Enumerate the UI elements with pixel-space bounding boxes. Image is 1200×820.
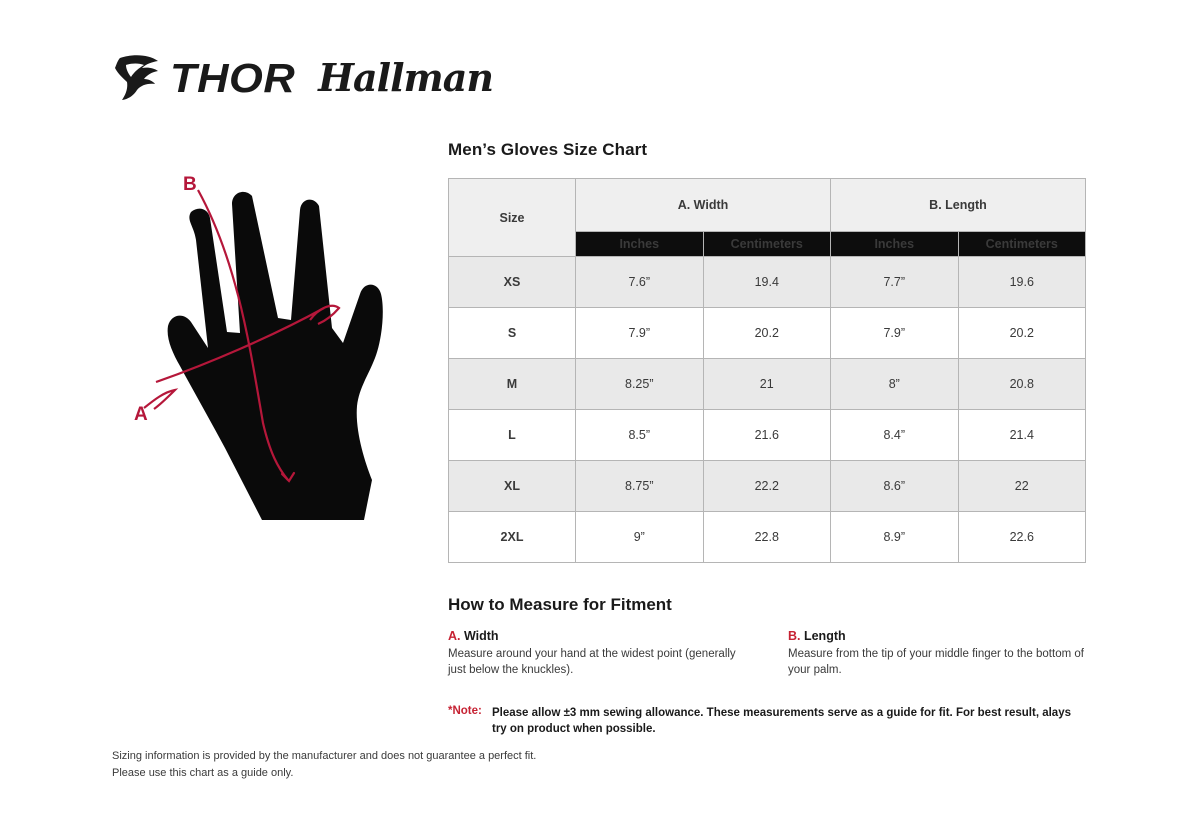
cell-width-centimeters: 21.6 bbox=[703, 410, 831, 461]
cell-size: L bbox=[449, 410, 576, 461]
measure-letter-a: A. bbox=[448, 629, 461, 643]
column-header-size: Size bbox=[449, 179, 576, 257]
column-header-width-centimeters: Centimeters bbox=[703, 232, 831, 257]
diagram-label-a: A bbox=[134, 404, 148, 425]
cell-width-inches: 7.9” bbox=[576, 308, 704, 359]
note-label: *Note: bbox=[448, 705, 492, 717]
measure-item-width-heading: A. Width bbox=[448, 629, 756, 643]
cell-length-inches: 8.6” bbox=[831, 461, 959, 512]
how-to-measure-columns: A. Width Measure around your hand at the… bbox=[448, 629, 1088, 679]
table-row: L 8.5” 21.6 8.4” 21.4 bbox=[449, 410, 1086, 461]
cell-size: 2XL bbox=[449, 512, 576, 563]
column-header-length-centimeters: Centimeters bbox=[958, 232, 1086, 257]
measure-item-width: A. Width Measure around your hand at the… bbox=[448, 629, 788, 679]
cell-size: XS bbox=[449, 257, 576, 308]
table-head: Size A. Width B. Length Inches Centimete… bbox=[449, 179, 1086, 257]
cell-size: S bbox=[449, 308, 576, 359]
size-chart-table: Size A. Width B. Length Inches Centimete… bbox=[448, 178, 1086, 563]
cell-length-inches: 8” bbox=[831, 359, 959, 410]
cell-width-centimeters: 19.4 bbox=[703, 257, 831, 308]
brand-logo-bar: THOR Hallman bbox=[112, 52, 493, 104]
cell-width-inches: 7.6” bbox=[576, 257, 704, 308]
column-group-width: A. Width bbox=[576, 179, 831, 232]
cell-length-inches: 8.9” bbox=[831, 512, 959, 563]
how-to-measure-section: How to Measure for Fitment A. Width Meas… bbox=[448, 595, 1088, 679]
cell-length-centimeters: 22 bbox=[958, 461, 1086, 512]
size-chart-content: Men’s Gloves Size Chart Size A. Width B.… bbox=[448, 140, 1088, 738]
column-group-length: B. Length bbox=[831, 179, 1086, 232]
cell-length-inches: 7.7” bbox=[831, 257, 959, 308]
cell-size: M bbox=[449, 359, 576, 410]
hallman-logo: Hallman bbox=[318, 59, 493, 97]
cell-length-centimeters: 22.6 bbox=[958, 512, 1086, 563]
measure-item-length-heading: B. Length bbox=[788, 629, 1088, 643]
column-header-length-inches: Inches bbox=[831, 232, 959, 257]
column-header-width-inches: Inches bbox=[576, 232, 704, 257]
thor-helmet-icon bbox=[112, 52, 168, 104]
note-text: Please allow ±3 mm sewing allowance. The… bbox=[492, 705, 1087, 738]
cell-length-centimeters: 20.2 bbox=[958, 308, 1086, 359]
cell-width-inches: 8.75” bbox=[576, 461, 704, 512]
cell-width-inches: 9” bbox=[576, 512, 704, 563]
measure-name-length: Length bbox=[801, 629, 846, 643]
thor-logo: THOR bbox=[112, 52, 288, 104]
hand-silhouette-icon: B A bbox=[128, 168, 434, 534]
cell-size: XL bbox=[449, 461, 576, 512]
hallman-wordmark: Hallman bbox=[318, 55, 493, 100]
cell-width-centimeters: 22.2 bbox=[703, 461, 831, 512]
thor-wordmark: THOR bbox=[170, 58, 295, 99]
table-row: XL 8.75” 22.2 8.6” 22 bbox=[449, 461, 1086, 512]
cell-width-centimeters: 20.2 bbox=[703, 308, 831, 359]
cell-length-inches: 8.4” bbox=[831, 410, 959, 461]
table-row: XS 7.6” 19.4 7.7” 19.6 bbox=[449, 257, 1086, 308]
cell-width-centimeters: 21 bbox=[703, 359, 831, 410]
table-row: S 7.9” 20.2 7.9” 20.2 bbox=[449, 308, 1086, 359]
table-row: M 8.25” 21 8” 20.8 bbox=[449, 359, 1086, 410]
how-to-measure-title: How to Measure for Fitment bbox=[448, 595, 1088, 615]
cell-width-centimeters: 22.8 bbox=[703, 512, 831, 563]
cell-length-centimeters: 20.8 bbox=[958, 359, 1086, 410]
measure-item-length: B. Length Measure from the tip of your m… bbox=[788, 629, 1088, 679]
page-title: Men’s Gloves Size Chart bbox=[448, 140, 1088, 160]
disclaimer-line-1: Sizing information is provided by the ma… bbox=[112, 748, 536, 765]
disclaimer: Sizing information is provided by the ma… bbox=[112, 748, 536, 782]
cell-length-centimeters: 21.4 bbox=[958, 410, 1086, 461]
note-row: *Note: Please allow ±3 mm sewing allowan… bbox=[448, 705, 1088, 738]
table-body: XS 7.6” 19.4 7.7” 19.6 S 7.9” 20.2 7.9” … bbox=[449, 257, 1086, 563]
table-row: 2XL 9” 22.8 8.9” 22.6 bbox=[449, 512, 1086, 563]
disclaimer-line-2: Please use this chart as a guide only. bbox=[112, 765, 536, 782]
table-header-row-groups: Size A. Width B. Length bbox=[449, 179, 1086, 232]
cell-length-centimeters: 19.6 bbox=[958, 257, 1086, 308]
diagram-label-b: B bbox=[183, 174, 197, 195]
cell-width-inches: 8.5” bbox=[576, 410, 704, 461]
cell-width-inches: 8.25” bbox=[576, 359, 704, 410]
cell-length-inches: 7.9” bbox=[831, 308, 959, 359]
hand-measurement-diagram: B A bbox=[128, 168, 434, 534]
measure-item-width-text: Measure around your hand at the widest p… bbox=[448, 646, 756, 679]
measure-arrow-a-left bbox=[144, 390, 175, 409]
measure-item-length-text: Measure from the tip of your middle fing… bbox=[788, 646, 1088, 679]
measure-name-width: Width bbox=[461, 629, 499, 643]
measure-letter-b: B. bbox=[788, 629, 801, 643]
